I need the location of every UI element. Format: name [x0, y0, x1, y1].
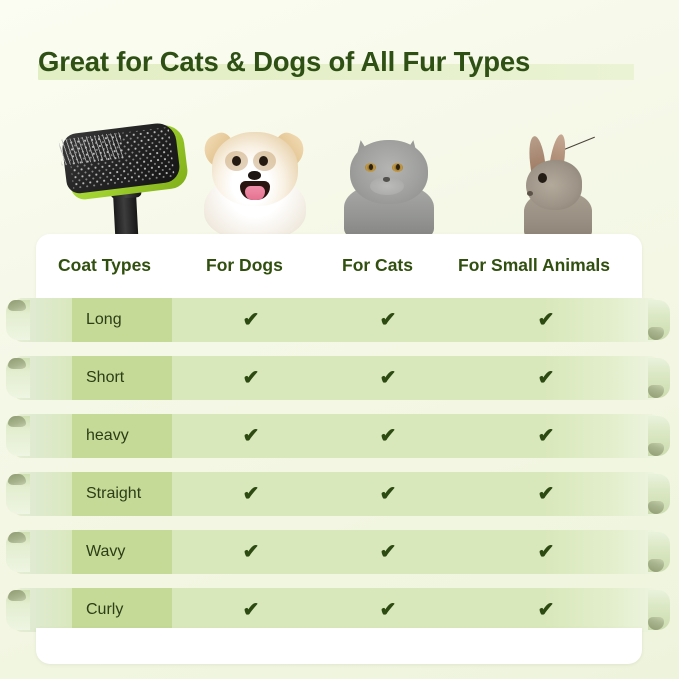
check-icon-dogs: ✔: [238, 414, 264, 458]
table-body: Long ✔ ✔ ✔ Short ✔ ✔ ✔ heavy ✔ ✔: [0, 298, 679, 638]
check-icon-cats: ✔: [375, 414, 401, 458]
check-icon-cats: ✔: [375, 588, 401, 632]
table-row: Long ✔ ✔ ✔: [14, 298, 660, 342]
row-ribbon-cap-right: [648, 416, 670, 456]
check-icon-dogs: ✔: [238, 472, 264, 516]
check-icon-small: ✔: [533, 356, 559, 400]
check-icon-small: ✔: [533, 298, 559, 342]
cell-coat-type: Short: [72, 356, 172, 400]
rabbit-icon: [508, 130, 604, 240]
row-ribbon-cap-left: [6, 358, 30, 398]
pomeranian-dog-icon: [196, 124, 314, 240]
check-icon-dogs: ✔: [238, 530, 264, 574]
page-title-block: Great for Cats & Dogs of All Fur Types: [38, 42, 642, 84]
cell-coat-type: Long: [72, 298, 172, 342]
row-ribbon-cap-left: [6, 590, 30, 630]
coat-type-label: Straight: [86, 485, 141, 503]
row-ribbon-cap-right: [648, 300, 670, 340]
dog-tongue: [245, 186, 265, 200]
check-icon-small: ✔: [533, 530, 559, 574]
row-ribbon-cap-right: [648, 358, 670, 398]
check-icon-cats: ✔: [375, 530, 401, 574]
check-icon-dogs: ✔: [238, 588, 264, 632]
column-header-for-dogs: For Dogs: [206, 255, 283, 276]
column-header-coat-types: Coat Types: [58, 255, 151, 276]
check-icon-cats: ✔: [375, 472, 401, 516]
grey-cat-icon: [336, 126, 442, 240]
table-row: Curly ✔ ✔ ✔: [14, 588, 660, 632]
dog-nose: [248, 171, 261, 180]
rabbit-head: [526, 160, 582, 210]
column-header-for-small-animals: For Small Animals: [458, 255, 610, 276]
coat-type-label: heavy: [86, 427, 129, 445]
cell-coat-type: heavy: [72, 414, 172, 458]
rabbit-eye: [538, 173, 547, 183]
coat-type-label: Wavy: [86, 543, 125, 561]
row-ribbon-cap-left: [6, 416, 30, 456]
cell-coat-type: Curly: [72, 588, 172, 632]
dog-eye-left: [232, 156, 241, 166]
cell-coat-type: Straight: [72, 472, 172, 516]
rabbit-whisker: [563, 137, 595, 151]
cat-nose: [383, 177, 390, 182]
table-row: Short ✔ ✔ ✔: [14, 356, 660, 400]
row-ribbon-cap-right: [648, 474, 670, 514]
coat-type-label: Curly: [86, 601, 123, 619]
row-ribbon-cap-right: [648, 590, 670, 630]
coat-type-compatibility-table: Coat Types For Dogs For Cats For Small A…: [0, 234, 679, 654]
table-row: Straight ✔ ✔ ✔: [14, 472, 660, 516]
table-footer-card: [36, 628, 642, 664]
row-ribbon-cap-left: [6, 474, 30, 514]
page-title: Great for Cats & Dogs of All Fur Types: [38, 42, 642, 82]
rabbit-nose: [527, 191, 533, 196]
check-icon-small: ✔: [533, 472, 559, 516]
coat-type-label: Short: [86, 369, 124, 387]
row-ribbon-cap-right: [648, 532, 670, 572]
row-ribbon-cap-left: [6, 300, 30, 340]
check-icon-cats: ✔: [375, 356, 401, 400]
pet-slicker-brush-icon: [58, 114, 208, 240]
row-ribbon-cap-left: [6, 532, 30, 572]
table-header-row: Coat Types For Dogs For Cats For Small A…: [36, 234, 642, 298]
table-row: heavy ✔ ✔ ✔: [14, 414, 660, 458]
dog-eye-right: [259, 156, 268, 166]
check-icon-small: ✔: [533, 588, 559, 632]
cat-pupil-left: [369, 164, 373, 170]
check-icon-dogs: ✔: [238, 298, 264, 342]
check-icon-cats: ✔: [375, 298, 401, 342]
column-header-for-cats: For Cats: [342, 255, 413, 276]
table-row: Wavy ✔ ✔ ✔: [14, 530, 660, 574]
check-icon-small: ✔: [533, 414, 559, 458]
cell-coat-type: Wavy: [72, 530, 172, 574]
cat-pupil-right: [396, 164, 400, 170]
hero-image-strip: [0, 112, 679, 240]
coat-type-label: Long: [86, 311, 122, 329]
check-icon-dogs: ✔: [238, 356, 264, 400]
